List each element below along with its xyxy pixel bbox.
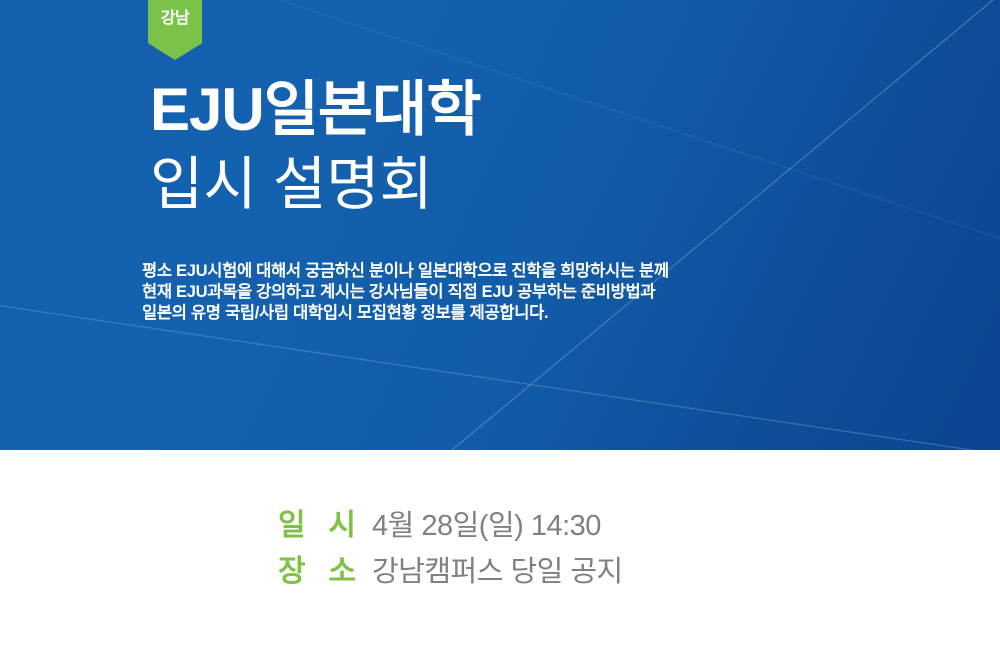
- description-line-2: 현재 EJU과목을 강의하고 계시는 강사님들이 직접 EJU 공부하는 준비방…: [142, 282, 782, 303]
- ribbon-label: 강남: [161, 11, 189, 27]
- datetime-label: 일 시: [278, 508, 356, 544]
- datetime-label-char-1: 일: [278, 508, 306, 544]
- event-details-table: 일 시 4월 28일(일) 14:30 장 소 강남캠퍼스 당일 공지: [278, 508, 623, 600]
- location-label-char-1: 장: [278, 554, 306, 590]
- location-label: 장 소: [278, 554, 356, 590]
- location-value: 강남캠퍼스 당일 공지: [372, 555, 623, 590]
- description-text: 평소 EJU시험에 대해서 궁금하신 분이나 일본대학으로 진학을 희망하시는 …: [142, 261, 782, 324]
- description-line-3: 일본의 유명 국립/사립 대학입시 모집현황 정보를 제공합니다.: [142, 303, 782, 324]
- event-detail-row-datetime: 일 시 4월 28일(일) 14:30: [278, 508, 623, 544]
- hero-panel: 강남 EJU일본대학 입시 설명회 평소 EJU시험에 대해서 궁금하신 분이나…: [0, 0, 1000, 450]
- campus-ribbon-badge: 강남: [148, 0, 202, 60]
- info-panel: 일 시 4월 28일(일) 14:30 장 소 강남캠퍼스 당일 공지: [0, 450, 1000, 650]
- poster-root: 강남 EJU일본대학 입시 설명회 평소 EJU시험에 대해서 궁금하신 분이나…: [0, 0, 1000, 650]
- datetime-label-char-2: 시: [328, 508, 356, 544]
- location-label-char-2: 소: [328, 554, 356, 590]
- event-detail-row-location: 장 소 강남캠퍼스 당일 공지: [278, 554, 623, 590]
- description-line-1: 평소 EJU시험에 대해서 궁금하신 분이나 일본대학으로 진학을 희망하시는 …: [142, 261, 782, 282]
- datetime-value: 4월 28일(일) 14:30: [372, 509, 601, 544]
- page-subtitle: 입시 설명회: [150, 153, 850, 218]
- diagonal-lines-decoration: [0, 0, 1000, 450]
- title-block: EJU일본대학 입시 설명회: [150, 78, 850, 218]
- page-title: EJU일본대학: [150, 78, 850, 143]
